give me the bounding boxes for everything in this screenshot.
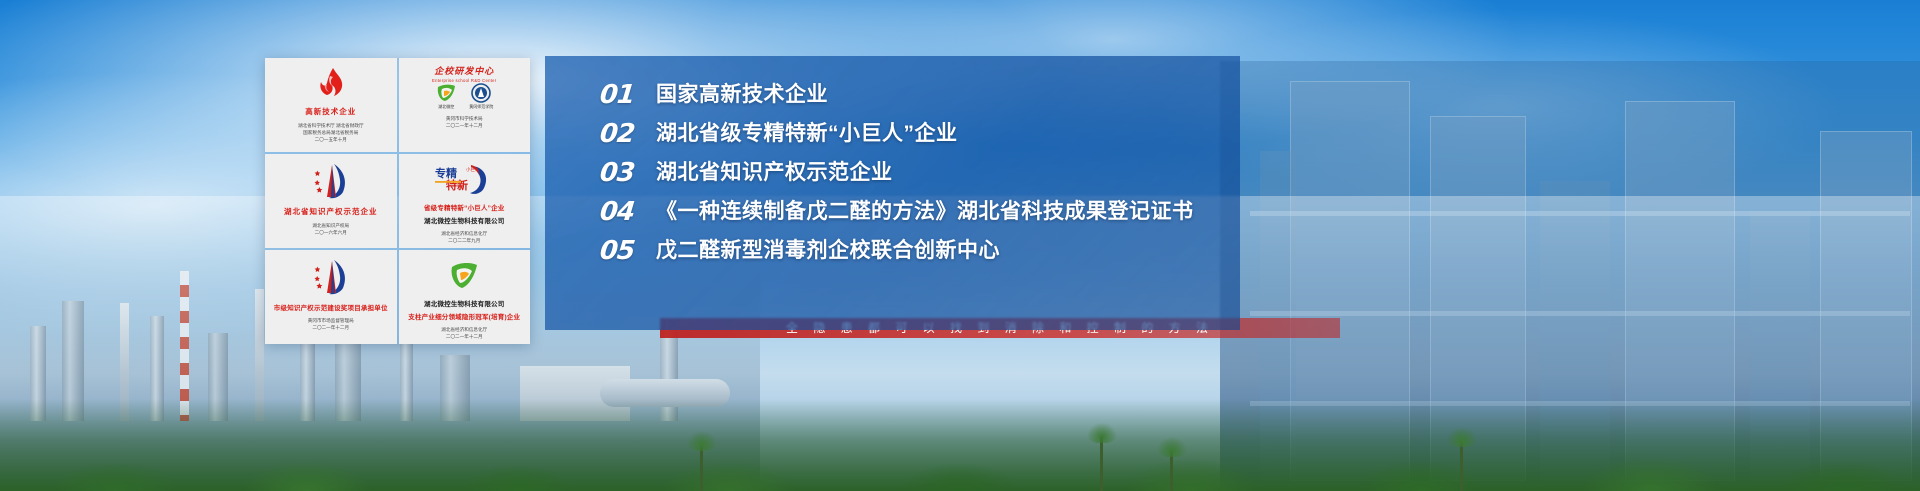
svg-text:特新: 特新 bbox=[446, 178, 468, 192]
certificate-card[interactable]: 湖北省知识产权示范企业 湖北省知识产权局 二〇一六年六月 bbox=[265, 154, 397, 248]
weikong-green-icon bbox=[448, 256, 480, 296]
highlight-item-03[interactable]: 03 湖北省知识产权示范企业 bbox=[600, 160, 1226, 186]
highlight-number: 02 bbox=[599, 121, 658, 147]
highlight-item-04[interactable]: 04 《一种连续制备戊二醛的方法》湖北省科技成果登记证书 bbox=[600, 199, 1226, 225]
highlight-number: 01 bbox=[599, 82, 658, 108]
highlight-text: 湖北省级专精特新“小巨人”企业 bbox=[656, 122, 958, 146]
highlight-item-05[interactable]: 05 戊二醛新型消毒剂企校联合创新中心 bbox=[600, 238, 1226, 264]
zjtx-ribbon-icon: 专精 特新 小巨人 bbox=[433, 160, 495, 200]
certificate-issuer: 湖北省经济和信息化厅 二〇二一年十二月 bbox=[441, 326, 487, 340]
issuer-line: 国家税务总局湖北省税务局 bbox=[298, 129, 364, 136]
badge-label: 湖北微控 bbox=[438, 104, 454, 110]
issuer-date: 二〇二一年十二月 bbox=[308, 324, 354, 331]
issuer-line: 湖北省科学技术厅 湖北省财政厅 bbox=[298, 122, 364, 129]
highlight-text: 湖北省知识产权示范企业 bbox=[656, 161, 893, 185]
highlight-text: 戊二醛新型消毒剂企校联合创新中心 bbox=[656, 239, 1000, 263]
banner-stage: 全 隐 患 都 可 以 找 到 消 除 和 控 制 的 方 法 高新技术企业 湖… bbox=[0, 0, 1920, 491]
certificate-card[interactable]: 企校研发中心 Enterprise school R&D Center 湖北微控 bbox=[399, 58, 531, 152]
issuer-line: 湖北省经济和信息化厅 bbox=[441, 230, 487, 237]
certificate-subtitle: 湖北微控生物科技有限公司 bbox=[424, 215, 504, 225]
rd-center-icon: 湖北微控 黄冈师范学院 bbox=[435, 83, 493, 109]
highlight-number: 05 bbox=[599, 238, 658, 264]
issuer-date: 二〇一六年六月 bbox=[312, 229, 349, 236]
issuer-line: 湖北省经济和信息化厅 bbox=[441, 326, 487, 333]
certificate-title-cn: 企校研发中心 bbox=[434, 64, 494, 77]
highlights-list: 01 国家高新技术企业 02 湖北省级专精特新“小巨人”企业 03 湖北省知识产… bbox=[600, 82, 1226, 264]
ip-star-sail-icon bbox=[310, 256, 352, 300]
issuer-line: 湖北省知识产权局 bbox=[312, 222, 349, 229]
certificate-subtitle: 支柱产业细分领域隐形冠军(培育)企业 bbox=[408, 311, 520, 321]
highlight-number: 03 bbox=[599, 160, 658, 186]
certificate-issuer: 湖北省知识产权局 二〇一六年六月 bbox=[312, 222, 349, 236]
highlights-panel: 01 国家高新技术企业 02 湖北省级专精特新“小巨人”企业 03 湖北省知识产… bbox=[545, 56, 1240, 330]
svg-text:小巨人: 小巨人 bbox=[466, 166, 480, 173]
certificate-title: 湖北微控生物科技有限公司 bbox=[424, 298, 504, 308]
highlight-text: 国家高新技术企业 bbox=[656, 83, 828, 107]
certificate-issuer: 湖北省科学技术厅 湖北省财政厅 国家税务总局湖北省税务局 二〇一五年十月 bbox=[298, 122, 364, 143]
certificate-title: 高新技术企业 bbox=[305, 106, 356, 117]
badge-label: 黄冈师范学院 bbox=[469, 104, 493, 110]
issuer-date: 二〇二二年九月 bbox=[441, 237, 487, 244]
certificate-title: 湖北省知识产权示范企业 bbox=[284, 206, 378, 217]
red-flame-icon bbox=[316, 64, 346, 104]
certificate-issuer: 湖北省经济和信息化厅 二〇二二年九月 bbox=[441, 230, 487, 244]
highlight-item-01[interactable]: 01 国家高新技术企业 bbox=[600, 82, 1226, 108]
issuer-date: 二〇二一年十二月 bbox=[446, 122, 483, 129]
ip-star-sail-icon bbox=[310, 160, 352, 204]
foreground-greenery bbox=[0, 399, 1920, 491]
certificate-issuer: 黄冈市市场监督管理局 二〇二一年十二月 bbox=[308, 317, 354, 331]
highlight-item-02[interactable]: 02 湖北省级专精特新“小巨人”企业 bbox=[600, 121, 1226, 147]
certificate-card[interactable]: 市级知识产权示范建设奖项目承担单位 黄冈市市场监督管理局 二〇二一年十二月 bbox=[265, 250, 397, 344]
highlight-number: 04 bbox=[599, 199, 658, 225]
certificate-card[interactable]: 专精 特新 小巨人 省级专精特新“小巨人”企业 湖北微控生物科技有限公司 湖北省… bbox=[399, 154, 531, 248]
highlight-text: 《一种连续制备戊二醛的方法》湖北省科技成果登记证书 bbox=[656, 200, 1194, 224]
issuer-line: 黄冈市市场监督管理局 bbox=[308, 317, 354, 324]
certificate-title: 市级知识产权示范建设奖项目承担单位 bbox=[274, 302, 388, 312]
certificates-grid: 高新技术企业 湖北省科学技术厅 湖北省财政厅 国家税务总局湖北省税务局 二〇一五… bbox=[265, 58, 530, 344]
svg-text:专精: 专精 bbox=[435, 166, 457, 180]
issuer-date: 二〇二一年十二月 bbox=[441, 333, 487, 340]
certificate-issuer: 黄冈市科学技术局 二〇二一年十二月 bbox=[446, 115, 483, 129]
certificate-card[interactable]: 高新技术企业 湖北省科学技术厅 湖北省财政厅 国家税务总局湖北省税务局 二〇一五… bbox=[265, 58, 397, 152]
issuer-date: 二〇一五年十月 bbox=[298, 136, 364, 143]
certificate-card[interactable]: 湖北微控生物科技有限公司 支柱产业细分领域隐形冠军(培育)企业 湖北省经济和信息… bbox=[399, 250, 531, 344]
issuer-line: 黄冈市科学技术局 bbox=[446, 115, 483, 122]
certificate-title: 省级专精特新“小巨人”企业 bbox=[424, 202, 505, 212]
